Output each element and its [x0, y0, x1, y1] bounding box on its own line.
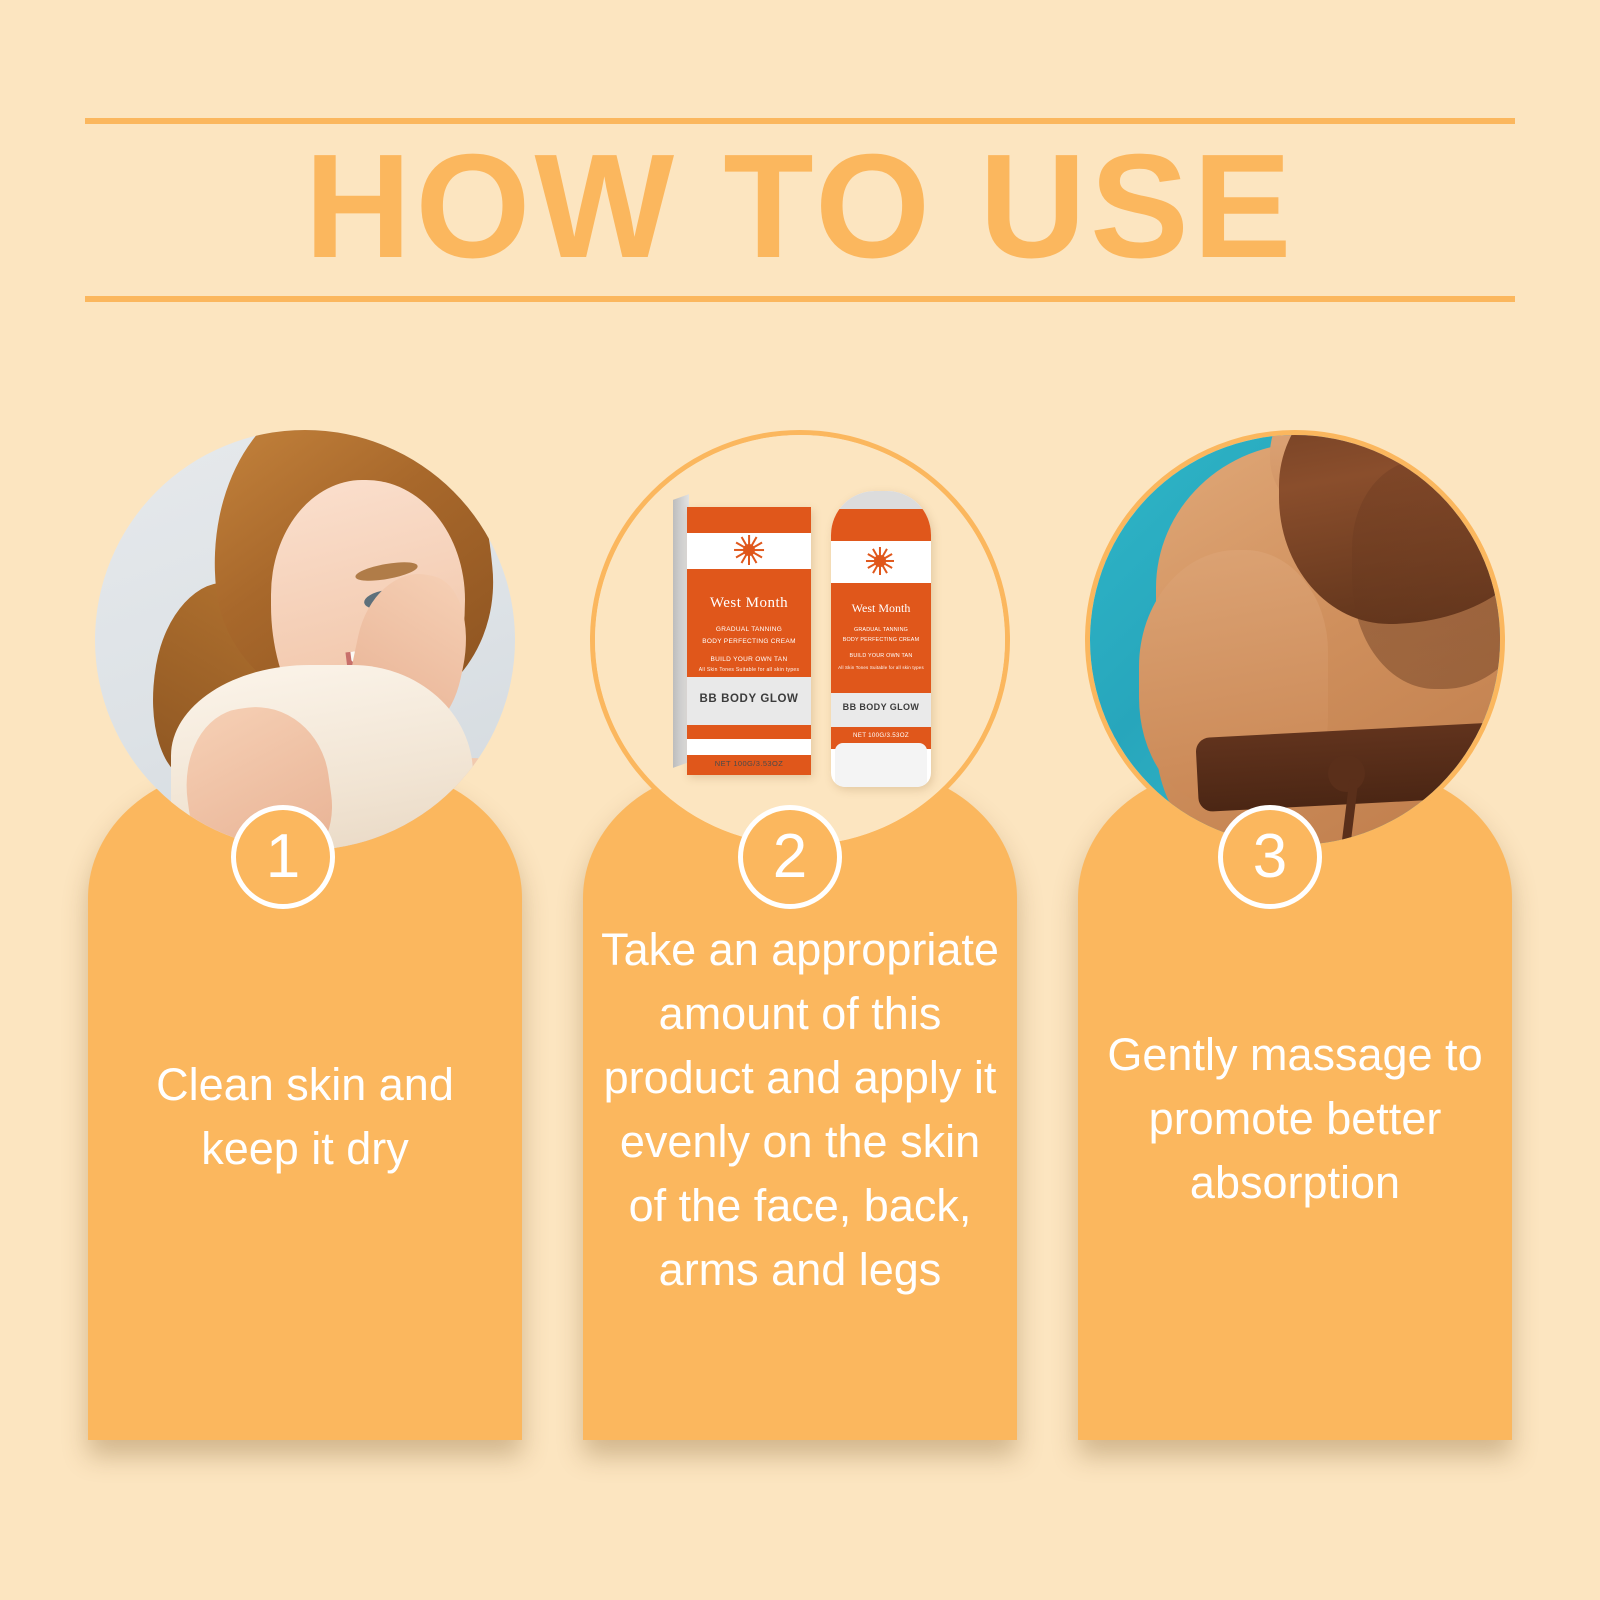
tube-claim-4: All Skin Tones Suitable for all skin typ…: [835, 665, 927, 671]
step-caption-2: Take an appropriate amount of this produ…: [601, 918, 999, 1302]
infographic-page: HOW TO USE Clean skin and keep it dry: [0, 0, 1600, 1600]
step-caption-3: Gently massage to promote better absorpt…: [1096, 1023, 1494, 1215]
tube-base: [835, 743, 927, 787]
tube-product-name: BB BODY GLOW: [831, 702, 931, 712]
tube-cap: [831, 491, 931, 509]
box-net-weight: NET 100G/3.53OZ: [687, 759, 811, 768]
box-band-top: [687, 507, 811, 533]
tube-brand-name: West Month: [831, 601, 931, 616]
box-brand-name: West Month: [687, 595, 811, 612]
sun-icon: [734, 535, 764, 565]
box-claim-1: GRADUAL TANNING: [691, 625, 807, 634]
step-image-1: [95, 430, 515, 850]
product-tube: West Month GRADUAL TANNING BODY PERFECTI…: [831, 491, 931, 787]
step-image-2: West Month GRADUAL TANNING BODY PERFECTI…: [590, 430, 1010, 850]
photo-tanned-back: [1090, 435, 1500, 845]
sun-icon: [866, 547, 894, 575]
tube-net-weight: NET 100G/3.53OZ: [831, 732, 931, 739]
step-number-badge-2: 2: [738, 805, 842, 909]
tube-claim-1: GRADUAL TANNING: [835, 627, 927, 635]
box-band-lower: [687, 725, 811, 739]
step-caption-1: Clean skin and keep it dry: [106, 1053, 504, 1181]
product-box: West Month GRADUAL TANNING BODY PERFECTI…: [687, 507, 811, 775]
steps-row: Clean skin and keep it dry 1 Ta: [0, 0, 1600, 1600]
box-claim-2: BODY PERFECTING CREAM: [691, 637, 807, 646]
photo-woman-towel: [95, 430, 515, 850]
tube-band-top: [831, 509, 931, 541]
bikini-knot: [1328, 755, 1365, 792]
tube-claim-2: BODY PERFECTING CREAM: [835, 637, 927, 645]
hair-strands: [1352, 460, 1505, 690]
tube-claim-3: BUILD YOUR OWN TAN: [835, 653, 927, 661]
step-image-3: [1085, 430, 1505, 850]
step-number-badge-1: 1: [231, 805, 335, 909]
step-number-badge-3: 3: [1218, 805, 1322, 909]
box-claim-4: All Skin Tones Suitable for all skin typ…: [691, 667, 807, 674]
photo-product: West Month GRADUAL TANNING BODY PERFECTI…: [595, 435, 1005, 845]
box-claim-3: BUILD YOUR OWN TAN: [691, 655, 807, 664]
box-product-name: BB BODY GLOW: [687, 693, 811, 705]
